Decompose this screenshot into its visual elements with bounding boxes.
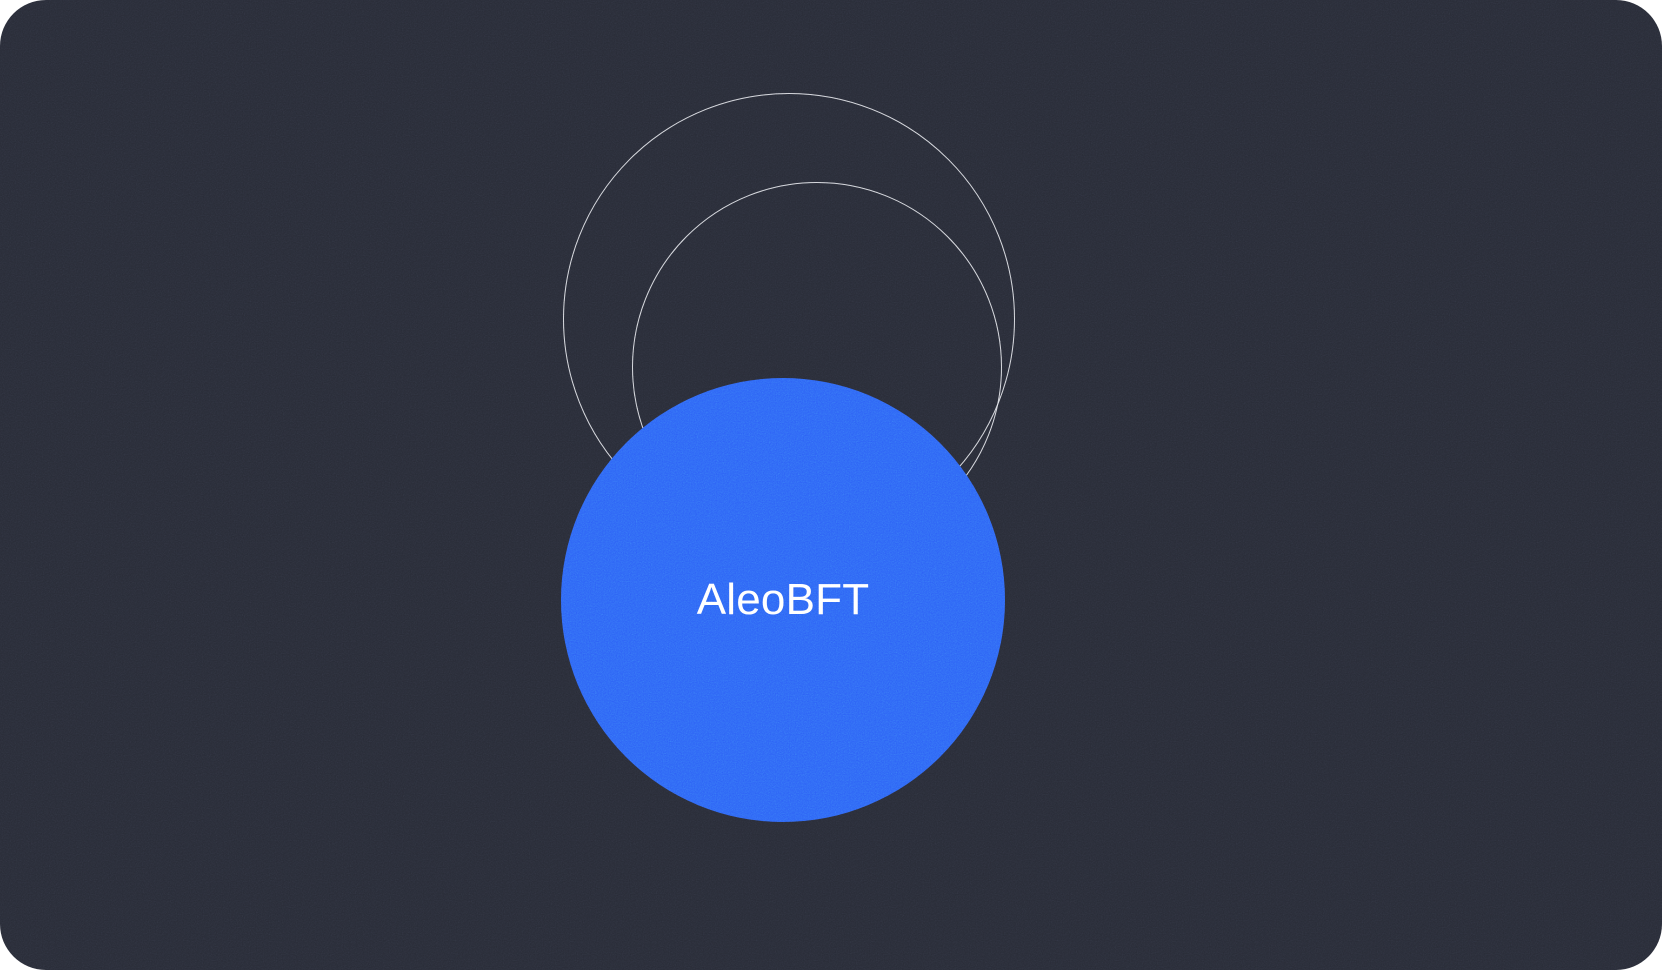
aleobft-diagram-card: AleoBFT xyxy=(0,0,1662,970)
primary-circle-label: AleoBFT xyxy=(697,578,870,622)
primary-circle-aleobft[interactable]: AleoBFT xyxy=(561,378,1005,822)
